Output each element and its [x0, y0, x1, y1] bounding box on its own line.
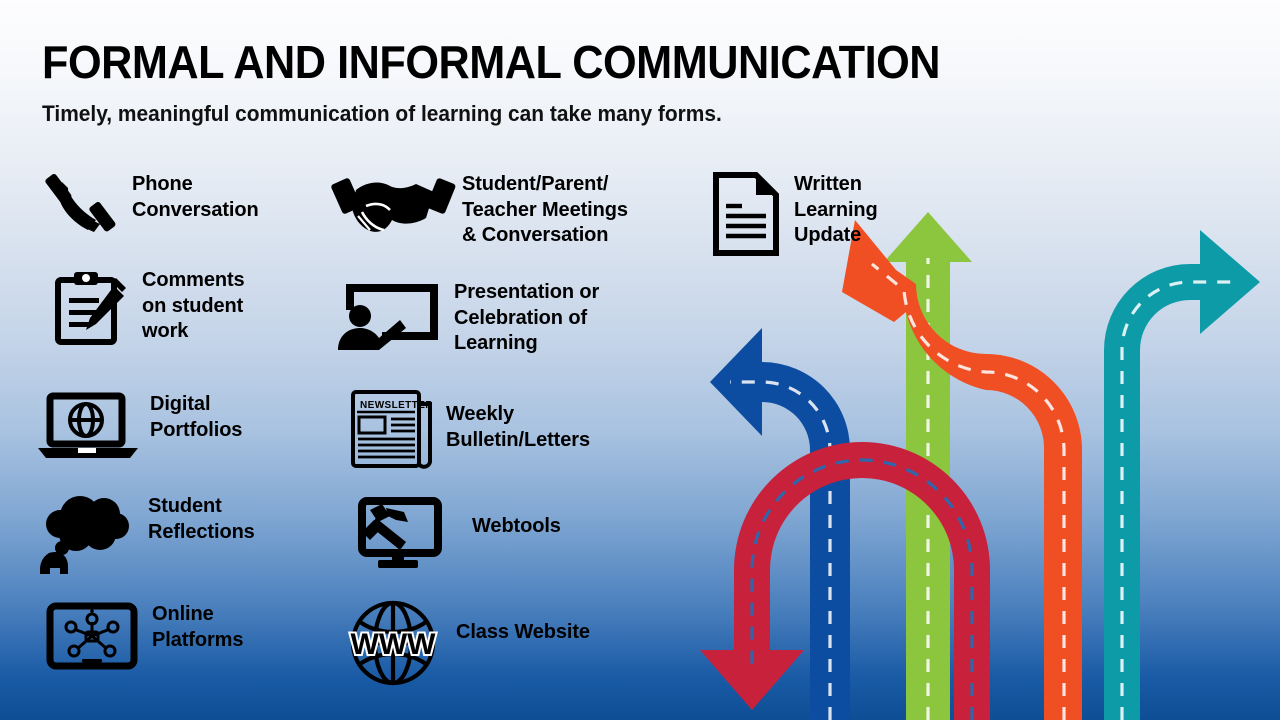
globe-www-icon: WWW — [348, 598, 438, 688]
newsletter-masthead-text: NEWSLETTER — [360, 400, 433, 411]
monitor-tools-icon — [348, 498, 450, 570]
tablet-network-icon — [46, 602, 142, 670]
www-text: WWW — [351, 628, 437, 661]
list-item-label: Class Website — [456, 620, 590, 646]
list-item-label: Presentation or Celebration of Learning — [454, 280, 599, 357]
list-item-class-website[interactable]: WWW Class Website — [348, 598, 590, 688]
arrow-teal — [1104, 230, 1260, 720]
list-item-student-reflections[interactable]: Student Reflections — [38, 494, 255, 574]
page-subtitle: Timely, meaningful communication of lear… — [42, 100, 722, 128]
list-item-label: Student Reflections — [148, 494, 255, 545]
list-item-student-parent-teacher-meetings[interactable]: Student/Parent/ Teacher Meetings & Conve… — [336, 172, 628, 249]
slide-canvas: .dash{fill:none;stroke:#ffffff;stroke-wi… — [0, 0, 1280, 720]
list-item-phone-conversation[interactable]: Phone Conversation — [44, 172, 259, 238]
presenter-board-icon — [334, 280, 444, 350]
list-item-label: Student/Parent/ Teacher Meetings & Conve… — [462, 172, 628, 249]
list-item-weekly-bulletin-letters[interactable]: NEWSLETTER Weekly Bulletin/Letters — [350, 384, 590, 470]
list-item-label: Comments on student work — [142, 268, 245, 345]
list-item-presentation-celebration[interactable]: Presentation or Celebration of Learning — [334, 280, 599, 357]
list-item-label: Webtools — [472, 514, 561, 540]
list-item-comments-on-student-work[interactable]: Comments on student work — [52, 268, 245, 346]
list-item-label: Weekly Bulletin/Letters — [446, 402, 590, 453]
laptop-globe-icon — [36, 392, 140, 460]
document-lines-icon — [712, 172, 780, 256]
list-item-label: Digital Portfolios — [150, 392, 242, 443]
phone-icon — [44, 172, 122, 238]
clipboard-pencil-icon — [52, 268, 132, 346]
list-item-label: Written Learning Update — [794, 172, 878, 249]
newspaper-icon: NEWSLETTER — [350, 384, 436, 470]
thought-bubble-head-icon — [38, 494, 138, 574]
handshake-icon — [336, 172, 452, 242]
list-item-digital-portfolios[interactable]: Digital Portfolios — [36, 392, 242, 460]
list-item-label: Phone Conversation — [132, 172, 259, 223]
list-item-label: Online Platforms — [152, 602, 243, 653]
list-item-online-platforms[interactable]: Online Platforms — [46, 602, 243, 670]
page-title: FORMAL AND INFORMAL COMMUNICATION — [42, 36, 940, 88]
list-item-webtools[interactable]: Webtools — [348, 498, 561, 570]
list-item-written-learning-update[interactable]: Written Learning Update — [712, 172, 878, 256]
